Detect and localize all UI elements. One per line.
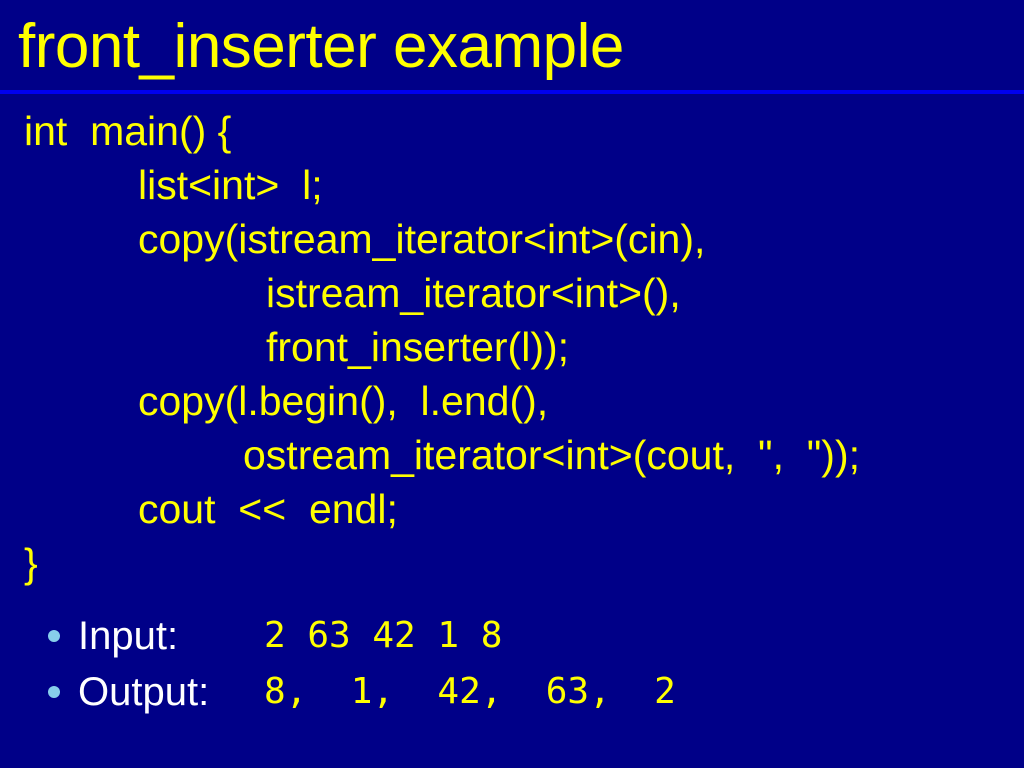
code-line: ostream_iterator<int>(cout, ", ")); [0,428,1024,482]
code-line: copy(l.begin(), l.end(), [0,374,1024,428]
title-divider [0,90,1024,94]
code-line: } [0,536,1024,590]
bullet-icon [48,630,60,642]
code-line: istream_iterator<int>(), [0,266,1024,320]
list-item: Input:2 63 42 1 8 [0,608,1024,664]
code-line: list<int> l; [0,158,1024,212]
bullet-icon [48,686,60,698]
bullet-value: 2 63 42 1 8 [264,608,502,664]
code-line: int main() { [0,104,1024,158]
code-line: cout << endl; [0,482,1024,536]
code-block: int main() {list<int> l;copy(istream_ite… [0,104,1024,590]
bullet-label: Output: [78,664,209,720]
bullet-value: 8, 1, 42, 63, 2 [264,664,676,720]
code-line: front_inserter(l)); [0,320,1024,374]
bullet-label: Input: [78,608,178,664]
list-item: Output:8, 1, 42, 63, 2 [0,664,1024,720]
bullet-list: Input:2 63 42 1 8Output:8, 1, 42, 63, 2 [0,608,1024,720]
page-title: front_inserter example [18,4,624,90]
code-line: copy(istream_iterator<int>(cin), [0,212,1024,266]
